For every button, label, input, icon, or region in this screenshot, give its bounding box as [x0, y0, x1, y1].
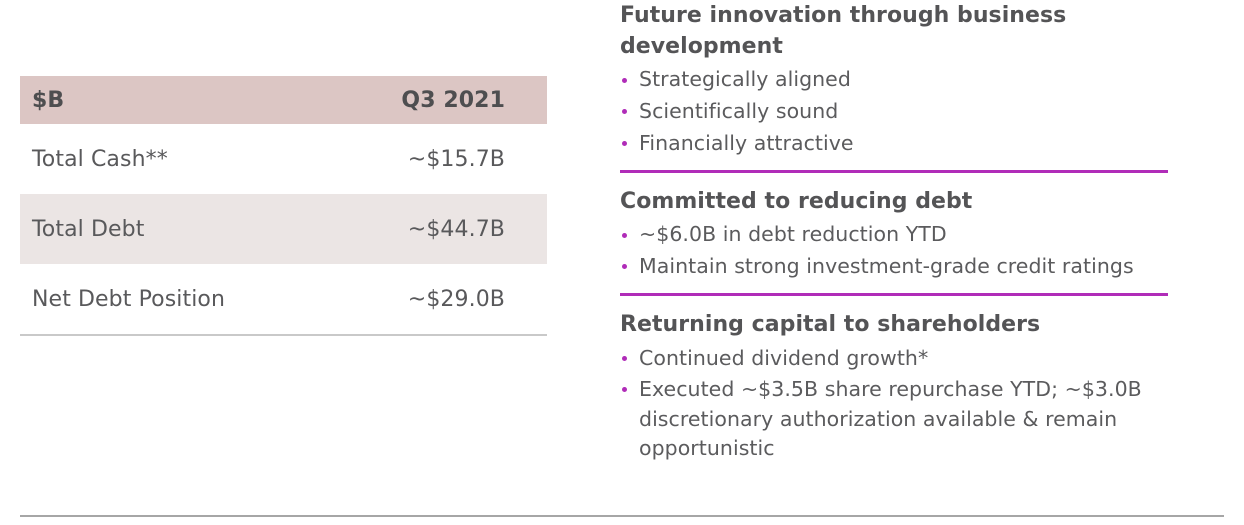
list-item-text: Financially attractive — [639, 131, 854, 155]
table-body: Total Cash** ~$15.7B Total Debt ~$44.7B … — [20, 124, 547, 335]
row-label-net-debt-position: Net Debt Position — [20, 264, 284, 335]
bullet-dot-icon — [622, 264, 627, 269]
list-item-text: Executed ~$3.5B share repurchase YTD; ~$… — [639, 377, 1142, 460]
bullet-dot-icon — [622, 141, 627, 146]
list-item: Financially attractive — [620, 129, 1172, 159]
row-label-total-debt: Total Debt — [20, 194, 284, 264]
section-heading: Committed to reducing debt — [620, 186, 1172, 217]
table-row: Total Debt ~$44.7B — [20, 194, 547, 264]
list-item: Scientifically sound — [620, 97, 1172, 127]
bullet-list: Strategically aligned Scientifically sou… — [620, 65, 1172, 158]
list-item-text: ~$6.0B in debt reduction YTD — [639, 222, 947, 246]
section-returning-capital: Returning capital to shareholders Contin… — [620, 309, 1172, 463]
list-item: ~$6.0B in debt reduction YTD — [620, 220, 1172, 250]
bullet-dot-icon — [622, 356, 627, 361]
row-value-net-debt-position: ~$29.0B — [284, 264, 548, 335]
section-future-innovation: Future innovation through business devel… — [620, 0, 1172, 158]
section-reducing-debt: Committed to reducing debt ~$6.0B in deb… — [620, 186, 1172, 281]
list-item: Strategically aligned — [620, 65, 1172, 95]
section-heading: Future innovation through business devel… — [620, 0, 1172, 62]
financial-summary-table: $B Q3 2021 Total Cash** ~$15.7B Total De… — [20, 76, 547, 336]
slide: $B Q3 2021 Total Cash** ~$15.7B Total De… — [0, 0, 1244, 525]
row-value-total-debt: ~$44.7B — [284, 194, 548, 264]
table-header: $B Q3 2021 — [20, 76, 547, 124]
column-header-unit: $B — [20, 76, 284, 124]
bullet-dot-icon — [622, 109, 627, 114]
list-item-text: Scientifically sound — [639, 99, 838, 123]
bullet-dot-icon — [622, 233, 627, 238]
section-divider — [620, 293, 1168, 296]
bullet-list: ~$6.0B in debt reduction YTD Maintain st… — [620, 220, 1172, 281]
list-item-text: Continued dividend growth* — [639, 346, 928, 370]
table-header-row: $B Q3 2021 — [20, 76, 547, 124]
section-heading: Returning capital to shareholders — [620, 309, 1172, 340]
list-item: Executed ~$3.5B share repurchase YTD; ~$… — [620, 375, 1172, 464]
table-row: Net Debt Position ~$29.0B — [20, 264, 547, 335]
capital-allocation-panel: Future innovation through business devel… — [620, 0, 1172, 466]
financial-summary-table-panel: $B Q3 2021 Total Cash** ~$15.7B Total De… — [20, 76, 547, 336]
table-row: Total Cash** ~$15.7B — [20, 124, 547, 194]
row-label-total-cash: Total Cash** — [20, 124, 284, 194]
bullet-dot-icon — [622, 78, 627, 83]
section-divider — [620, 170, 1168, 173]
list-item-text: Maintain strong investment-grade credit … — [639, 254, 1134, 278]
footer-rule — [20, 515, 1224, 517]
list-item: Continued dividend growth* — [620, 344, 1172, 374]
bullet-list: Continued dividend growth* Executed ~$3.… — [620, 344, 1172, 464]
column-header-period: Q3 2021 — [284, 76, 548, 124]
list-item-text: Strategically aligned — [639, 67, 851, 91]
list-item: Maintain strong investment-grade credit … — [620, 252, 1172, 282]
bullet-dot-icon — [622, 387, 627, 392]
row-value-total-cash: ~$15.7B — [284, 124, 548, 194]
